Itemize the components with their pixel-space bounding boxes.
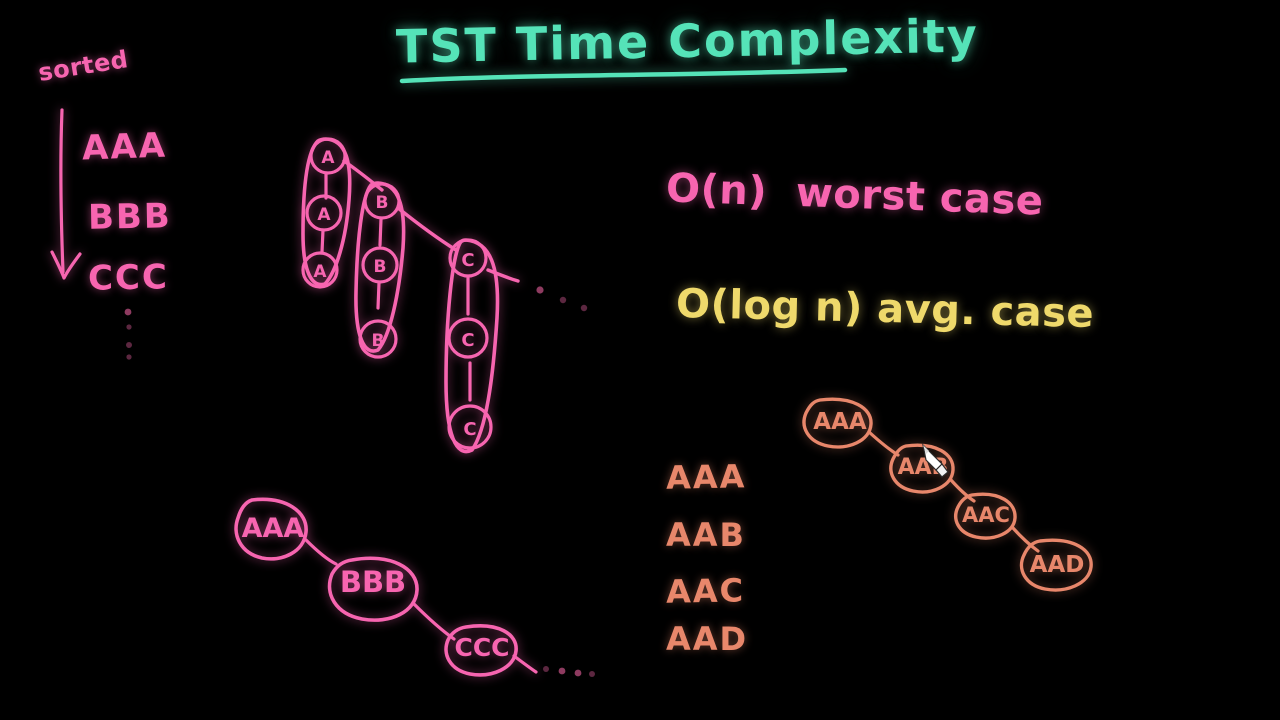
oll-node-1-ellipse <box>891 445 953 492</box>
sorted-label: sorted <box>36 45 130 87</box>
tst-node-B-1 <box>363 248 397 282</box>
oll-node-3-ellipse <box>1022 540 1092 590</box>
oll-node-1-label: AAB <box>898 455 949 480</box>
tst-node-B-0-label: B <box>376 193 389 213</box>
oll-node-2-label: AAC <box>962 503 1010 527</box>
oll-node-3-label: AAD <box>1030 552 1085 578</box>
oll-edge-0-1 <box>869 432 898 455</box>
tst-node-C-2 <box>449 406 491 448</box>
sorted-item-2: CCC <box>88 257 170 298</box>
sorted-item-1: BBB <box>88 196 172 237</box>
tst-node-A-1-label: A <box>317 205 331 225</box>
tst-chain-A-ellipse <box>303 139 350 285</box>
sorted-item-0: AAA <box>81 126 167 169</box>
tst-continuation-dots <box>536 286 587 311</box>
tst-chain-C-ellipse <box>446 240 498 452</box>
tst-diagram: A A A B B B <box>303 139 518 452</box>
tst-edge-B1 <box>380 219 381 245</box>
word-list-item-2: AAC <box>666 571 746 610</box>
tst-node-C-0-label: C <box>461 250 474 271</box>
pll-node-2-label: CCC <box>454 633 509 662</box>
tst-node-A-1 <box>307 196 341 230</box>
ink-layer: A A A B B B <box>0 0 1280 720</box>
tst-node-A-2-label: A <box>313 262 327 282</box>
pll-node-2-ellipse <box>446 626 516 675</box>
linked-list-pink-dots <box>543 666 595 677</box>
tst-node-C-2-label: C <box>463 419 476 440</box>
tst-edge-B-to-C <box>398 208 456 250</box>
worst-case-complexity: O(n) worst case <box>665 165 1044 224</box>
tst-node-B-0 <box>365 184 399 218</box>
pll-node-0-label: AAA <box>242 513 305 544</box>
tst-edge-A-to-B <box>344 161 382 190</box>
pll-edge-1-2 <box>414 604 454 639</box>
whiteboard-canvas: TST Time Complexity sorted AAA BBB CCC O… <box>0 0 1280 720</box>
tst-node-B-2-label: B <box>372 331 385 351</box>
tst-edge-B2 <box>378 283 379 308</box>
pll-tail-edge <box>514 656 536 672</box>
tst-node-C-1-label: C <box>461 330 474 351</box>
tst-node-A-0-label: A <box>321 148 335 168</box>
word-list-item-0: AAA <box>666 457 747 496</box>
oll-edge-1-2 <box>951 480 974 501</box>
pll-node-1-label: BBB <box>340 565 406 599</box>
pll-node-0-ellipse <box>236 499 306 558</box>
word-list-item-3: AAD <box>666 620 748 658</box>
oll-node-2-ellipse <box>956 494 1015 538</box>
oll-edge-2-3 <box>1013 528 1038 551</box>
sorted-arrow <box>52 110 80 278</box>
linked-list-orange: AAA AAB AAC AAD <box>804 399 1091 590</box>
average-case-complexity: O(log n) avg. case <box>676 281 1095 337</box>
tst-node-A-2 <box>303 253 337 287</box>
tst-node-B-2 <box>360 321 396 357</box>
oll-node-0-ellipse <box>804 399 871 447</box>
tst-tail-edge <box>488 270 518 281</box>
sorted-continuation-dots <box>125 309 132 360</box>
tst-chain-B-ellipse <box>356 183 404 351</box>
pll-edge-0-1 <box>306 540 336 564</box>
tst-edge-A2 <box>322 230 323 252</box>
word-list-item-1: AAB <box>666 516 746 554</box>
page-title: TST Time Complexity <box>396 8 980 73</box>
pll-node-1-ellipse <box>330 558 417 620</box>
oll-node-0-label: AAA <box>813 409 867 435</box>
tst-node-A-0 <box>311 139 345 173</box>
tst-node-B-1-label: B <box>374 257 387 277</box>
tst-node-C-1 <box>449 319 487 357</box>
linked-list-pink: AAA BBB CCC <box>236 499 536 674</box>
pen-cursor <box>920 442 954 482</box>
tst-node-C-0 <box>450 240 486 276</box>
